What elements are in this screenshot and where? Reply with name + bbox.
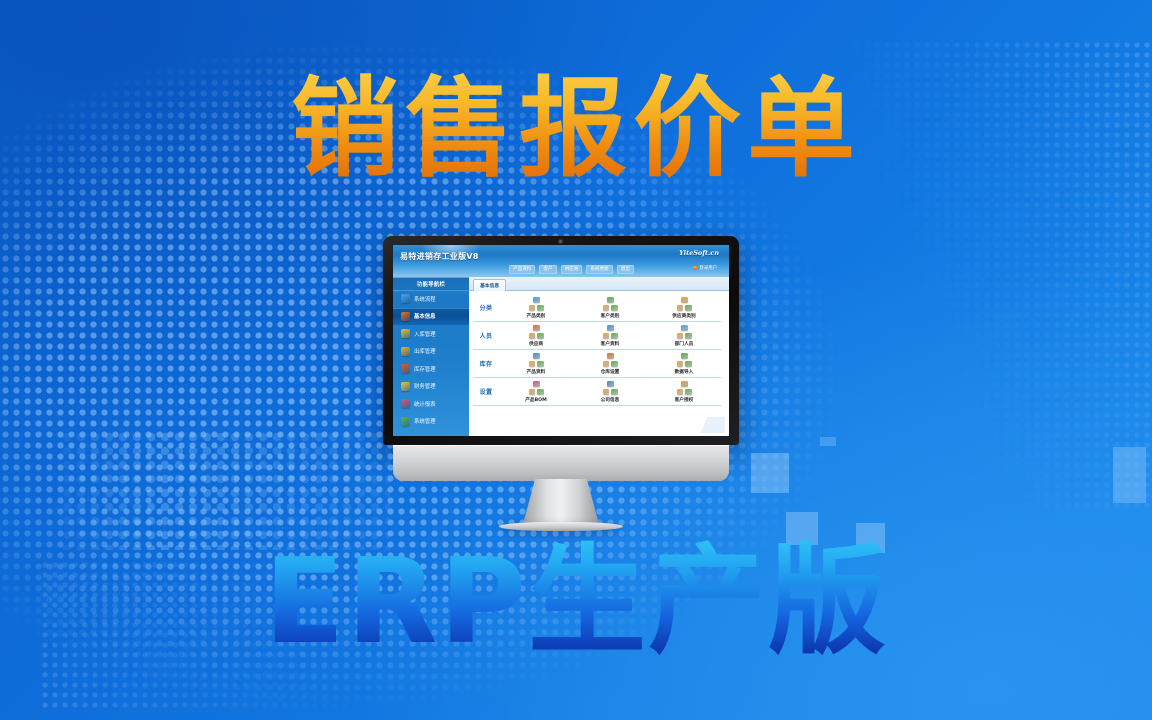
product-category-icon [529, 297, 544, 312]
app-user-status[interactable]: 登录用户 [693, 265, 717, 271]
icon-group-items: 产品BOM公司信息客户授权 [499, 381, 721, 403]
icon-group-row: 人员供应商客户资料部门人员 [473, 322, 721, 350]
product-file-icon [529, 353, 544, 368]
app-header: 易特进销存工业版V8 YiteSoft.cn 产品资料客户供应商系统更新退出 登… [393, 245, 729, 277]
report-icon [401, 399, 410, 408]
icon-group-row: 设置产品BOM公司信息客户授权 [473, 378, 721, 406]
decor-square-5 [820, 437, 836, 446]
app-brand-logo: YiteSoft.cn [679, 249, 719, 257]
sidebar-item-7[interactable]: 系统管理 [393, 413, 469, 431]
grid-item-3-0[interactable]: 产品BOM [499, 381, 573, 403]
grid-item-1-0[interactable]: 供应商 [499, 325, 573, 347]
content-icon-grid: 分类产品类别客户类别供应商类别人员供应商客户资料部门人员库存产品资料仓库设置数据… [469, 291, 729, 436]
poster-title-bottom-fill: ERP生产版 [264, 528, 888, 676]
department-staff-icon [677, 325, 692, 340]
monitor-bezel: 易特进销存工业版V8 YiteSoft.cn 产品资料客户供应商系统更新退出 登… [383, 236, 739, 445]
app-sidebar: 功能导航栏 系统流程基本信息入库管理出库管理库存管理财务管理统计报表系统管理 [393, 277, 469, 436]
product-bom-icon [529, 381, 544, 396]
grid-item-label: 供应商类别 [672, 313, 695, 319]
supplier-person-icon [529, 325, 544, 340]
finance-icon [401, 382, 410, 391]
nav-item-2[interactable]: 供应商 [561, 265, 583, 274]
erp-application: 易特进销存工业版V8 YiteSoft.cn 产品资料客户供应商系统更新退出 登… [393, 245, 729, 436]
sidebar-item-6[interactable]: 统计报表 [393, 395, 469, 413]
grid-item-label: 供应商 [529, 341, 543, 347]
grid-item-label: 公司信息 [601, 397, 620, 403]
user-icon [693, 266, 697, 270]
supplier-category-icon [677, 297, 692, 312]
poster-title-bottom: ERP生产版 ERP生产版 [0, 528, 1152, 676]
grid-item-0-0[interactable]: 产品类别 [499, 297, 573, 319]
grid-item-2-2[interactable]: 数据导入 [647, 353, 721, 375]
grid-item-0-2[interactable]: 供应商类别 [647, 297, 721, 319]
grid-item-label: 客户资料 [601, 341, 620, 347]
grid-item-label: 产品类别 [527, 313, 546, 319]
sidebar-item-label: 出库管理 [414, 347, 436, 355]
customer-category-icon [603, 297, 618, 312]
nav-item-3[interactable]: 系统更新 [586, 265, 612, 274]
grid-item-label: 数据导入 [675, 369, 694, 375]
grid-item-0-1[interactable]: 客户类别 [573, 297, 647, 319]
icon-group-items: 产品类别客户类别供应商类别 [499, 297, 721, 319]
data-import-icon [677, 353, 692, 368]
sidebar-item-label: 库存管理 [414, 365, 436, 373]
customer-auth-icon [677, 381, 692, 396]
content-tabbar: 基本信息 [469, 277, 729, 291]
grid-item-2-1[interactable]: 仓库设置 [573, 353, 647, 375]
sidebar-item-label: 系统流程 [414, 295, 436, 303]
poster-title-top: 销售报价单 销售报价单 [0, 62, 1152, 197]
grid-item-3-1[interactable]: 公司信息 [573, 381, 647, 403]
monitor-chin [393, 445, 729, 481]
sidebar-item-5[interactable]: 财务管理 [393, 378, 469, 396]
grid-item-label: 仓库设置 [601, 369, 620, 375]
warehouse-setup-icon [603, 353, 618, 368]
stock-icon [401, 364, 410, 373]
app-user-label: 登录用户 [699, 265, 717, 271]
decor-square-4 [1113, 447, 1146, 503]
webcam-icon [559, 240, 562, 243]
monitor-mockup: 易特进销存工业版V8 YiteSoft.cn 产品资料客户供应商系统更新退出 登… [383, 236, 739, 541]
inbound-icon [401, 329, 410, 338]
tab-basic-info[interactable]: 基本信息 [473, 279, 506, 291]
monitor-stand-neck [523, 479, 599, 524]
sidebar-header: 功能导航栏 [393, 277, 469, 290]
app-window-title: 易特进销存工业版V8 [400, 251, 479, 262]
company-info-icon [603, 381, 618, 396]
decor-square-1 [751, 453, 789, 493]
nav-item-4[interactable]: 退出 [617, 265, 634, 274]
app-body: 功能导航栏 系统流程基本信息入库管理出库管理库存管理财务管理统计报表系统管理 基… [393, 277, 729, 436]
grid-item-2-0[interactable]: 产品资料 [499, 353, 573, 375]
icon-group-row: 分类产品类别客户类别供应商类别 [473, 294, 721, 322]
monitor-screen: 易特进销存工业版V8 YiteSoft.cn 产品资料客户供应商系统更新退出 登… [393, 245, 729, 436]
grid-item-label: 客户类别 [601, 313, 620, 319]
sidebar-item-label: 系统管理 [414, 417, 436, 425]
document-stack-graphic [691, 417, 725, 433]
icon-group-items: 产品资料仓库设置数据导入 [499, 353, 721, 375]
sidebar-item-3[interactable]: 出库管理 [393, 343, 469, 361]
nav-item-1[interactable]: 客户 [539, 265, 556, 274]
grid-item-label: 部门人员 [675, 341, 694, 347]
flow-icon [401, 294, 410, 303]
grid-item-1-2[interactable]: 部门人员 [647, 325, 721, 347]
icon-group-category: 库存 [473, 359, 499, 368]
sidebar-item-label: 入库管理 [414, 330, 436, 338]
icon-group-category: 设置 [473, 387, 499, 396]
monitor-stand-base [499, 522, 623, 531]
grid-item-label: 产品BOM [525, 397, 547, 403]
app-top-nav[interactable]: 产品资料客户供应商系统更新退出 [509, 265, 634, 274]
sidebar-item-label: 财务管理 [414, 382, 436, 390]
outbound-icon [401, 347, 410, 356]
sidebar-item-label: 基本信息 [414, 312, 436, 320]
sidebar-item-0[interactable]: 系统流程 [393, 290, 469, 308]
grid-item-label: 产品资料 [527, 369, 546, 375]
grid-item-3-2[interactable]: 客户授权 [647, 381, 721, 403]
icon-group-items: 供应商客户资料部门人员 [499, 325, 721, 347]
icon-group-category: 人员 [473, 331, 499, 340]
sidebar-item-label: 统计报表 [414, 400, 436, 408]
sidebar-list: 系统流程基本信息入库管理出库管理库存管理财务管理统计报表系统管理 [393, 290, 469, 430]
poster-title-top-fill: 销售报价单 [291, 62, 861, 197]
nav-item-0[interactable]: 产品资料 [509, 265, 535, 274]
customer-file-icon [603, 325, 618, 340]
sidebar-item-2[interactable]: 入库管理 [393, 325, 469, 343]
poster-canvas: 销售报价单 销售报价单 ERP生产版 ERP生产版 易特进销存工业版V8 Yit… [0, 0, 1152, 720]
grid-item-1-1[interactable]: 客户资料 [573, 325, 647, 347]
settings-icon [401, 417, 410, 426]
app-content: 基本信息 分类产品类别客户类别供应商类别人员供应商客户资料部门人员库存产品资料仓… [469, 277, 729, 436]
grid-item-label: 客户授权 [675, 397, 694, 403]
info-icon [401, 312, 410, 321]
sidebar-item-4[interactable]: 库存管理 [393, 360, 469, 378]
sidebar-item-1[interactable]: 基本信息 [393, 308, 469, 326]
icon-group-row: 库存产品资料仓库设置数据导入 [473, 350, 721, 378]
icon-group-category: 分类 [473, 303, 499, 312]
